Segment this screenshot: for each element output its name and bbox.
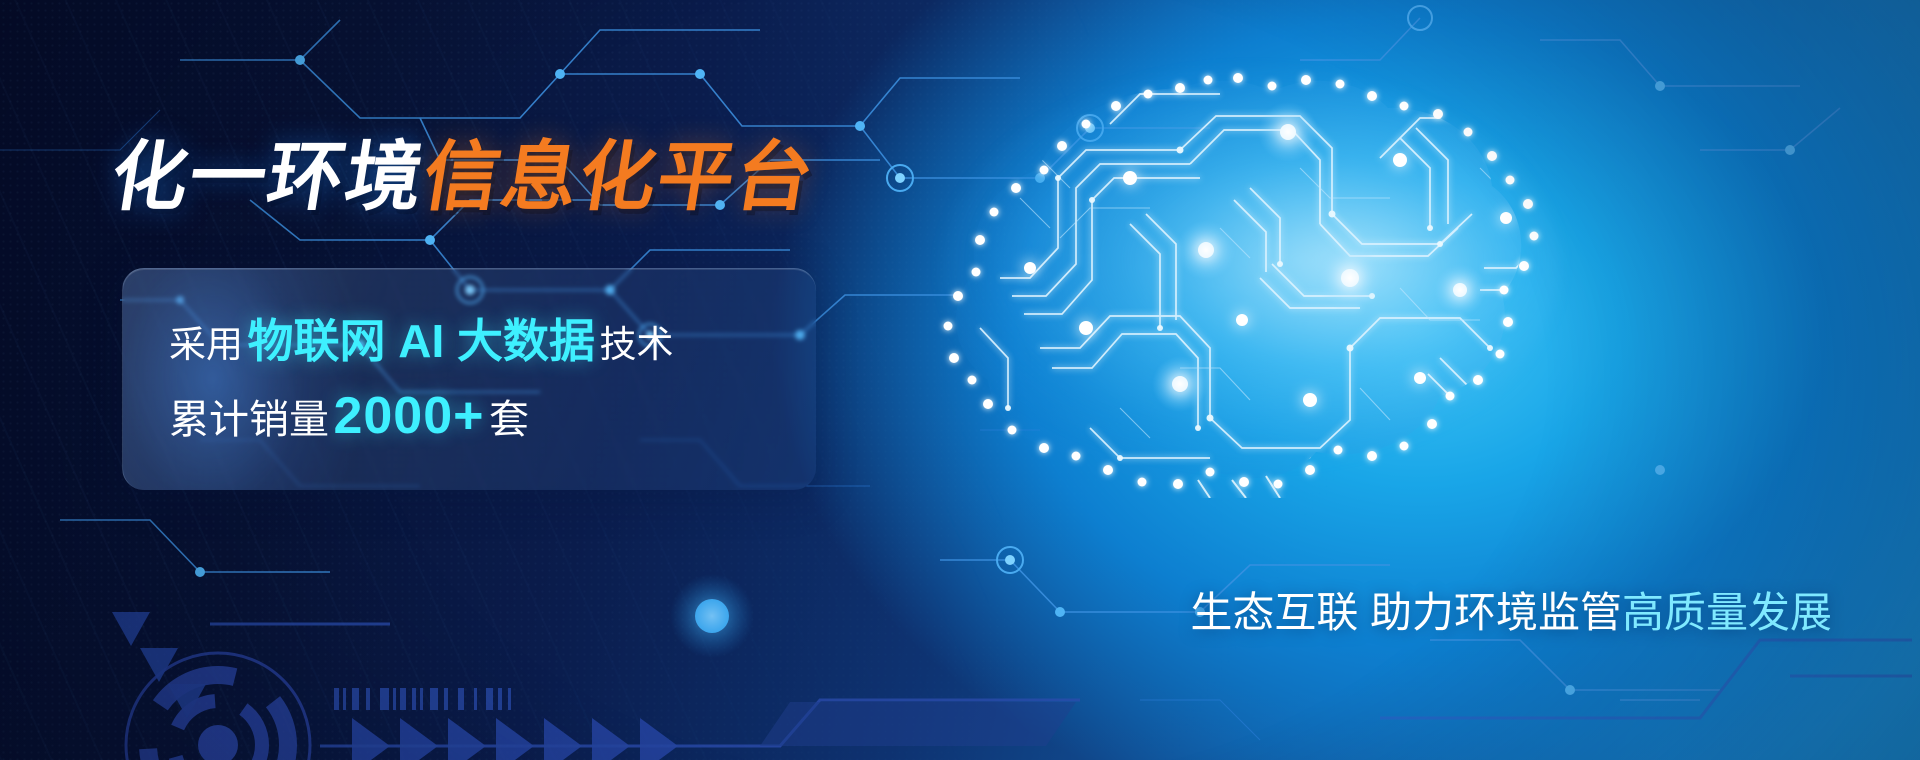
brain-circuit-svg	[880, 28, 1640, 498]
page-title: 化一环境信息化平台	[106, 140, 820, 216]
sales-suffix: 套	[489, 398, 529, 442]
tagline-accent: 高质量发展	[1622, 589, 1832, 636]
tech-prefix: 采用	[169, 324, 243, 365]
feature-line-sales: 累计销量 2000+ 套	[169, 390, 816, 442]
sales-count: 2000+	[333, 387, 484, 445]
headline-product: 信息化平台	[417, 135, 820, 220]
tech-suffix: 技术	[599, 324, 673, 365]
tech-highlight: 物联网 AI 大数据	[247, 315, 595, 367]
feature-line-technology: 采用 物联网 AI 大数据 技术	[169, 318, 816, 364]
tagline-main: 生态互联 助力环境监管	[1190, 589, 1622, 636]
feature-card: 采用 物联网 AI 大数据 技术 累计销量 2000+ 套	[122, 268, 816, 490]
circuit-brain-illustration	[880, 28, 1640, 498]
sales-prefix: 累计销量	[169, 398, 329, 442]
tagline: 生态互联 助力环境监管高质量发展	[1190, 592, 1832, 634]
headline-brand: 化一环境	[105, 135, 430, 220]
hero-banner: 化一环境信息化平台 采用 物联网 AI 大数据 技术 累计销量 2000+ 套 …	[0, 0, 1920, 760]
